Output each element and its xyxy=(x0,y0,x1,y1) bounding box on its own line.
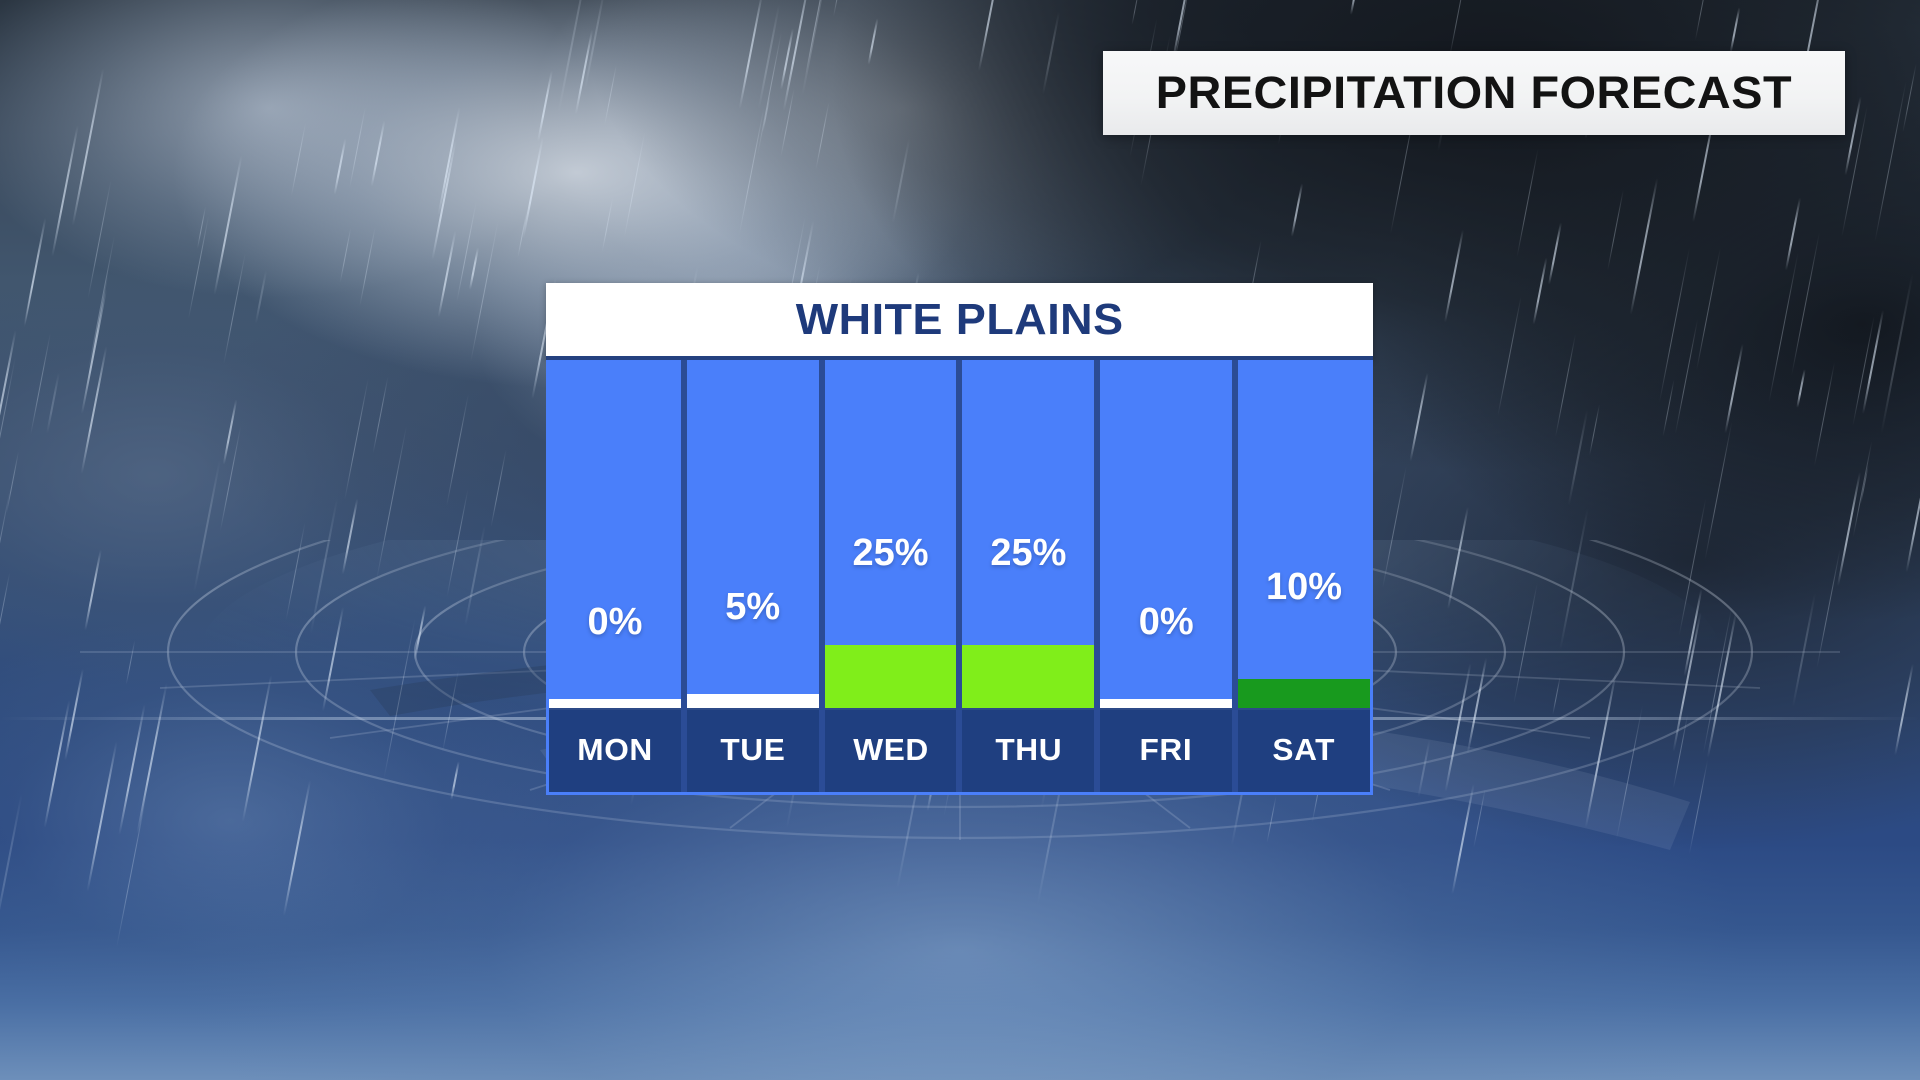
precip-fill-bar xyxy=(1100,699,1232,708)
day-footer: TUE xyxy=(687,708,819,792)
precip-fill-bar xyxy=(549,699,681,708)
forecast-column-wed[interactable]: 25%WED xyxy=(825,360,957,792)
forecast-column-thu[interactable]: 25%THU xyxy=(962,360,1094,792)
day-footer: SAT xyxy=(1238,708,1370,792)
day-label: TUE xyxy=(720,732,785,768)
day-footer: FRI xyxy=(1100,708,1232,792)
day-footer: WED xyxy=(825,708,957,792)
forecast-column-tue[interactable]: 5%TUE xyxy=(687,360,819,792)
day-label: MON xyxy=(577,732,653,768)
forecast-column-mon[interactable]: 0%MON xyxy=(549,360,681,792)
precip-percent-label: 25% xyxy=(825,534,957,572)
banner-title: PRECIPITATION FORECAST xyxy=(1156,67,1792,119)
precip-percent-label: 5% xyxy=(687,588,819,626)
precip-percent-label: 0% xyxy=(549,603,681,641)
precip-fill-bar xyxy=(1238,679,1370,708)
day-footer: THU xyxy=(962,708,1094,792)
card-header: WHITE PLAINS xyxy=(546,283,1373,360)
precip-percent-label: 0% xyxy=(1100,603,1232,641)
day-label: THU xyxy=(995,732,1062,768)
precip-fill-bar xyxy=(962,645,1094,708)
forecast-column-sat[interactable]: 10%SAT xyxy=(1238,360,1370,792)
precip-fill-bar xyxy=(825,645,957,708)
precip-fill-bar xyxy=(687,694,819,708)
forecast-columns: 0%MON5%TUE25%WED25%THU0%FRI10%SAT xyxy=(546,360,1373,795)
precip-percent-label: 25% xyxy=(962,534,1094,572)
day-footer: MON xyxy=(549,708,681,792)
weather-graphic-stage: PRECIPITATION FORECAST WHITE PLAINS 0%MO… xyxy=(0,0,1920,1080)
location-title: WHITE PLAINS xyxy=(796,295,1124,345)
day-label: SAT xyxy=(1273,732,1336,768)
forecast-card: WHITE PLAINS 0%MON5%TUE25%WED25%THU0%FRI… xyxy=(546,283,1373,791)
day-label: WED xyxy=(853,732,929,768)
day-label: FRI xyxy=(1140,732,1193,768)
precipitation-forecast-banner: PRECIPITATION FORECAST xyxy=(1103,51,1845,135)
precip-percent-label: 10% xyxy=(1238,568,1370,606)
forecast-column-fri[interactable]: 0%FRI xyxy=(1100,360,1232,792)
